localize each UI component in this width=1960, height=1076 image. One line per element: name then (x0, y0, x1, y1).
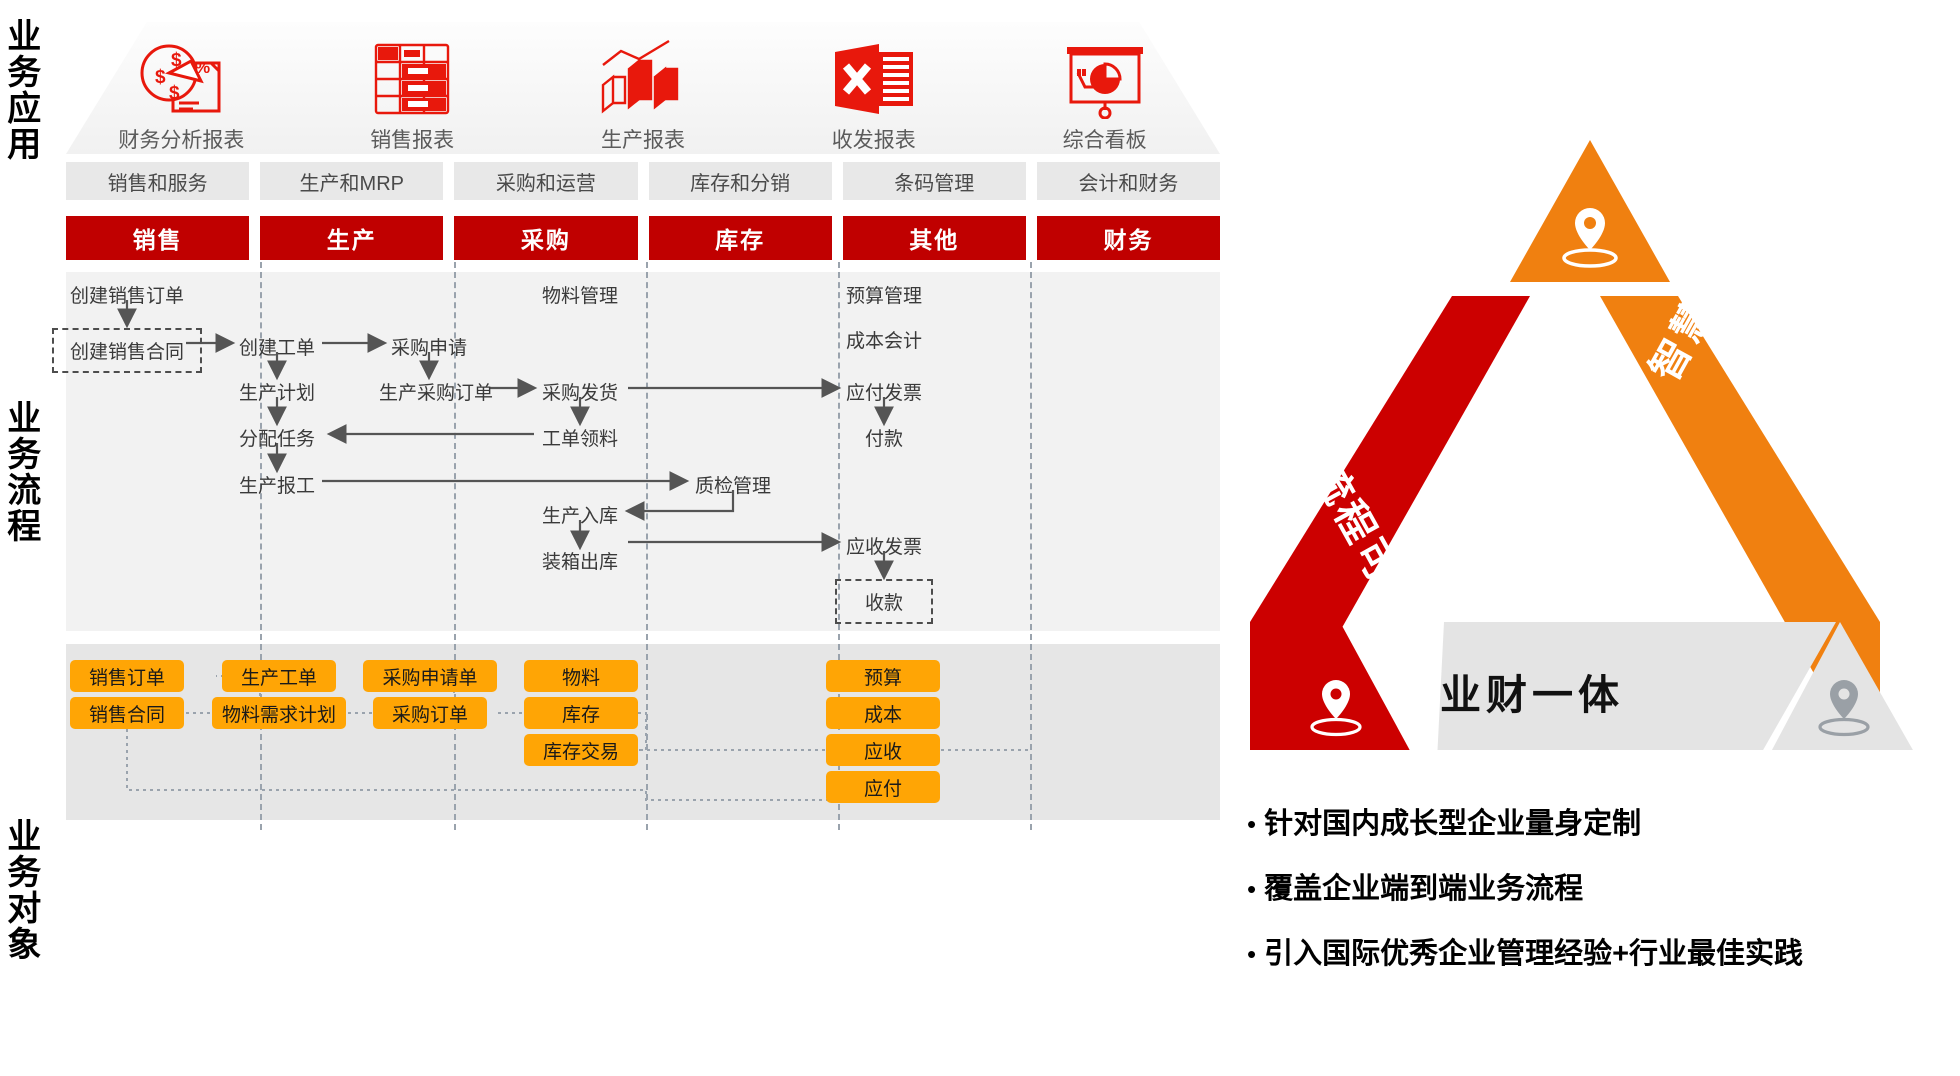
object-box[interactable]: 销售订单 (70, 660, 184, 692)
svg-text:%: % (195, 58, 210, 77)
object-box[interactable]: 物料需求计划 (212, 697, 346, 729)
column-header-production[interactable]: 生产 (260, 216, 443, 260)
module-barcode[interactable]: 条码管理 (843, 162, 1026, 200)
list-item: • 针对国内成长型企业量身定制 (1247, 800, 1947, 842)
object-box[interactable]: 预算 (826, 660, 940, 692)
section-label-business-application: 业务应用 (2, 18, 38, 162)
object-box[interactable]: 生产工单 (222, 660, 336, 692)
column-separator-5 (1030, 262, 1032, 640)
presentation-dashboard-icon (1059, 38, 1151, 120)
column-header-purchase[interactable]: 采购 (454, 216, 637, 260)
object-box[interactable]: 成本 (826, 697, 940, 729)
flow-node-boxed: 收款 (835, 579, 933, 624)
app-label: 综合看板 (1063, 124, 1147, 154)
object-box[interactable]: 销售合同 (70, 697, 184, 729)
app-label: 生产报表 (601, 124, 685, 154)
column-header-other[interactable]: 其他 (843, 216, 1026, 260)
business-process-panel (66, 272, 1220, 631)
flow-node: 生产采购订单 (379, 378, 493, 405)
module-accounting[interactable]: 会计和财务 (1037, 162, 1220, 200)
app-label: 收发报表 (832, 124, 916, 154)
flow-node: 付款 (865, 424, 903, 451)
column-header-sales[interactable]: 销售 (66, 216, 249, 260)
object-box[interactable]: 库存交易 (524, 734, 638, 766)
app-label: 销售报表 (370, 124, 454, 154)
module-production-mrp[interactable]: 生产和MRP (260, 162, 443, 200)
app-label: 财务分析报表 (118, 124, 244, 154)
bullet-text: 引入国际优秀企业管理经验+行业最佳实践 (1264, 930, 1803, 972)
slide-root: 业务应用 业务流程 业务对象 $ $ $ % (0, 0, 1960, 1076)
triangle-label-business-finance: 业财一体 (1440, 661, 1624, 721)
feature-bullet-list: • 针对国内成长型企业量身定制 • 覆盖企业端到端业务流程 • 引入国际优秀企业… (1247, 800, 1947, 995)
module-sales-service[interactable]: 销售和服务 (66, 162, 249, 200)
column-header-finance[interactable]: 财务 (1037, 216, 1220, 260)
list-item: • 引入国际优秀企业管理经验+行业最佳实践 (1247, 930, 1947, 972)
module-row: 销售和服务 生产和MRP 采购和运营 库存和分销 条码管理 会计和财务 (66, 162, 1220, 200)
object-box[interactable]: 应收 (826, 734, 940, 766)
excel-file-icon (827, 38, 921, 120)
column-separator-obj-5 (1030, 634, 1032, 830)
object-box[interactable]: 物料 (524, 660, 638, 692)
bullet-text: 针对国内成长型企业量身定制 (1264, 800, 1641, 842)
flow-node: 成本会计 (846, 326, 922, 353)
bullet-text: 覆盖企业端到端业务流程 (1264, 865, 1583, 907)
column-separator-obj-3 (646, 634, 648, 830)
column-header-row: 销售 生产 采购 库存 其他 财务 (66, 216, 1220, 260)
pie-chart-money-report-icon: $ $ $ % (133, 38, 229, 120)
app-item-sales-report[interactable]: 销售报表 (317, 38, 507, 154)
flow-node: 应收发票 (846, 532, 922, 559)
section-label-business-process: 业务流程 (2, 400, 38, 544)
app-item-dashboard[interactable]: 综合看板 (1010, 38, 1200, 154)
flow-node: 物料管理 (542, 281, 618, 308)
flow-node: 创建工单 (239, 333, 315, 360)
flow-node: 采购发货 (542, 378, 618, 405)
flow-node: 采购申请 (391, 333, 467, 360)
svg-text:$: $ (169, 83, 180, 104)
object-box[interactable]: 采购订单 (373, 697, 487, 729)
flow-node: 生产计划 (239, 378, 315, 405)
flow-node: 生产报工 (239, 471, 315, 498)
object-box[interactable]: 应付 (826, 771, 940, 803)
flow-node: 生产入库 (542, 501, 618, 528)
column-header-inventory[interactable]: 库存 (649, 216, 832, 260)
bullet-dot-icon: • (1247, 811, 1256, 837)
spreadsheet-table-icon (370, 38, 454, 120)
column-separator-3 (646, 262, 648, 640)
object-box[interactable]: 库存 (524, 697, 638, 729)
flow-node: 工单领料 (542, 424, 618, 451)
app-item-financial-report[interactable]: $ $ $ % 财务分析报表 (86, 38, 276, 154)
value-triangle-diagram: 流程可视 智慧决策 业财一体 (1240, 110, 1940, 750)
app-item-receipt-report[interactable]: 收发报表 (779, 38, 969, 154)
flow-node: 分配任务 (239, 424, 315, 451)
flow-node: 预算管理 (846, 281, 922, 308)
section-label-business-object: 业务对象 (2, 818, 38, 962)
app-item-production-report[interactable]: 生产报表 (548, 38, 738, 154)
flow-node: 创建销售订单 (70, 281, 184, 308)
flow-node-boxed: 创建销售合同 (52, 328, 202, 373)
bar-chart-3d-icon (595, 38, 691, 120)
bullet-dot-icon: • (1247, 876, 1256, 902)
bullet-dot-icon: • (1247, 941, 1256, 967)
column-separator-2 (454, 262, 456, 640)
flow-node: 质检管理 (695, 471, 771, 498)
module-purchase-ops[interactable]: 采购和运营 (454, 162, 637, 200)
svg-text:$: $ (171, 50, 182, 71)
flow-node: 装箱出库 (542, 547, 618, 574)
list-item: • 覆盖企业端到端业务流程 (1247, 865, 1947, 907)
svg-text:$: $ (155, 67, 166, 88)
column-separator-1 (260, 262, 262, 640)
flow-node: 应付发票 (846, 378, 922, 405)
application-icon-row: $ $ $ % 财务分析报表 (66, 26, 1220, 154)
object-box[interactable]: 采购申请单 (363, 660, 497, 692)
module-inventory-dist[interactable]: 库存和分销 (649, 162, 832, 200)
